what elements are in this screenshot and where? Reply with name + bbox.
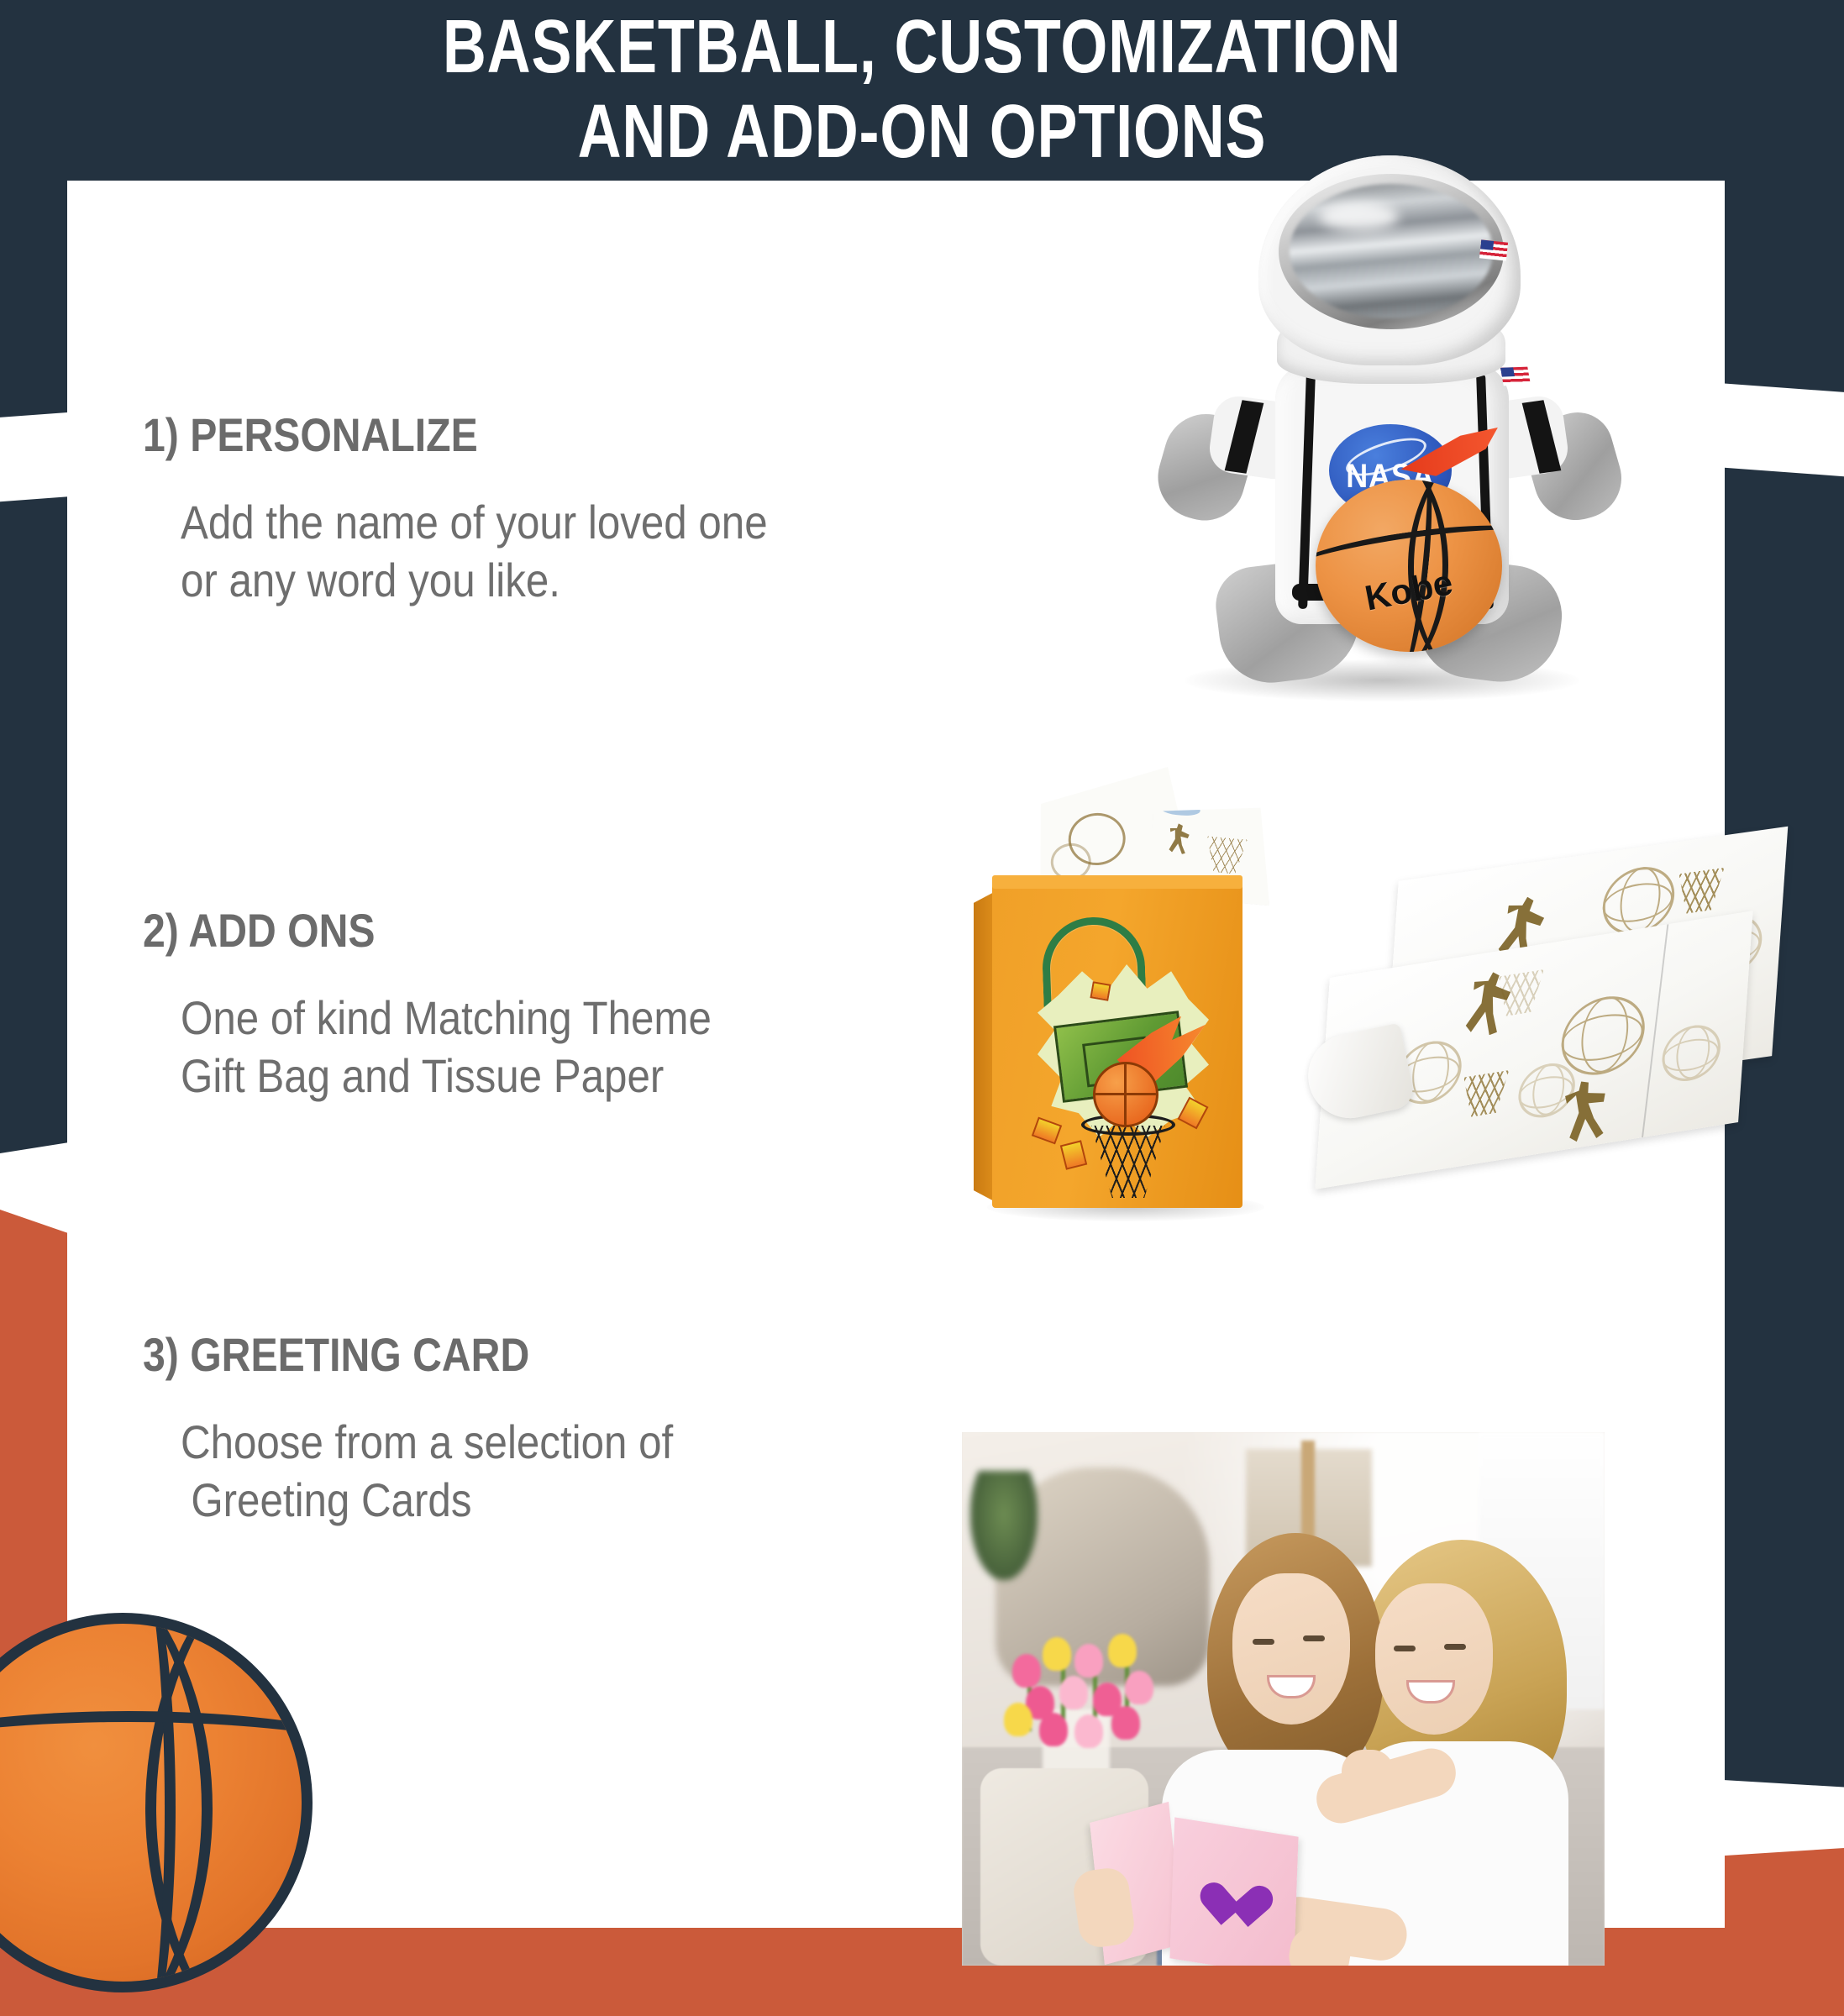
tulip-bloom [1108, 1634, 1137, 1667]
tissue-ball-motif-f [1660, 1021, 1722, 1085]
eye [1303, 1635, 1325, 1641]
tulip-bloom [1111, 1706, 1140, 1740]
tissue-ball-motif-e [1516, 1059, 1577, 1121]
decorative-basketball-icon [0, 1613, 313, 1992]
tulip-bloom [1059, 1676, 1088, 1709]
astronaut-plush-image: NASA Kobe [1151, 147, 1621, 735]
content-card: 1) PERSONALIZE Add the name of your love… [67, 181, 1725, 1928]
photo-daughter-face [1232, 1573, 1350, 1725]
page-title-line-1: BASKETBALL, CUSTOMIZATION [185, 5, 1660, 90]
section-add-ons: 2) ADD ONS One of kind Matching Theme Gi… [143, 907, 784, 1105]
section-2-body-line-2: Gift Bag and Tissue Paper [181, 1047, 712, 1105]
smile [1409, 1683, 1453, 1701]
astronaut-visor [1290, 184, 1493, 318]
tulip-bloom [1004, 1703, 1032, 1736]
smile [1269, 1677, 1313, 1696]
section-3-heading: 3) GREETING CARD [143, 1331, 657, 1378]
graphic-ball-seam-horizontal [1093, 1093, 1158, 1095]
tulip-bloom [1039, 1713, 1068, 1746]
section-3-body-line-2: Greeting Cards [181, 1472, 673, 1530]
section-personalize: 1) PERSONALIZE Add the name of your love… [143, 412, 848, 610]
section-1-body: Add the name of your loved one or any wo… [181, 494, 768, 610]
photo-plant [970, 1471, 1038, 1580]
tissue-fold-line [1642, 924, 1668, 1137]
gift-bag-top-lip [992, 875, 1242, 889]
tulip-bloom [1012, 1654, 1041, 1688]
burst-shard-4 [1090, 981, 1111, 1001]
section-1-body-line-1: Add the name of your loved one [181, 494, 768, 552]
burst-shard-2 [1060, 1140, 1087, 1169]
section-2-body-line-1: One of kind Matching Theme [181, 990, 712, 1047]
greeting-card-photo [962, 1432, 1605, 1966]
tissue-paper-image [1290, 853, 1810, 1214]
eye [1253, 1639, 1274, 1645]
tulip-bloom [1074, 1644, 1103, 1677]
tissue-ball-motif-c [1559, 990, 1647, 1081]
eye [1394, 1646, 1416, 1651]
gift-bag-image [970, 773, 1340, 1243]
infographic-frame: BASKETBALL, CUSTOMIZATION AND ADD-ON OPT… [0, 0, 1844, 2016]
burst-shard-1 [1032, 1117, 1062, 1145]
heart-icon [1209, 1884, 1264, 1933]
section-1-heading: 1) PERSONALIZE [143, 412, 749, 459]
eye [1444, 1644, 1466, 1650]
section-2-body: One of kind Matching Theme Gift Bag and … [181, 990, 712, 1105]
photo-mother-face [1375, 1583, 1493, 1735]
tissue-net-motif [1201, 836, 1249, 875]
tulip-bloom [1043, 1637, 1071, 1671]
section-1-body-line-2: or any word you like. [181, 552, 768, 610]
personalized-basketball: Kobe [1316, 480, 1502, 652]
graphic-basketball [1093, 1062, 1158, 1127]
tissue-player-motif [1168, 823, 1190, 855]
us-flag-patch-sleeve [1500, 367, 1531, 386]
photo-tulip-bouquet [990, 1615, 1167, 1758]
tulip-bloom [1125, 1671, 1153, 1704]
section-2-heading: 2) ADD ONS [143, 907, 694, 954]
section-greeting-card: 3) GREETING CARD Choose from a selection… [143, 1331, 740, 1530]
section-3-body-line-1: Choose from a selection of [181, 1414, 673, 1472]
tissue-net-motif-a [1673, 867, 1727, 916]
gift-bag-hoop-graphic [1032, 963, 1214, 1178]
tissue-net-motif-b [1458, 1069, 1512, 1119]
basketball-seam-horizontal [0, 1711, 313, 1837]
photo-mother-hand [1342, 1750, 1394, 1810]
astronaut-visor-glare [1319, 202, 1399, 231]
us-flag-patch-helmet [1479, 239, 1508, 260]
tulip-bloom [1074, 1714, 1103, 1748]
basketball-body [0, 1613, 313, 1992]
section-3-body: Choose from a selection of Greeting Card… [181, 1414, 673, 1530]
